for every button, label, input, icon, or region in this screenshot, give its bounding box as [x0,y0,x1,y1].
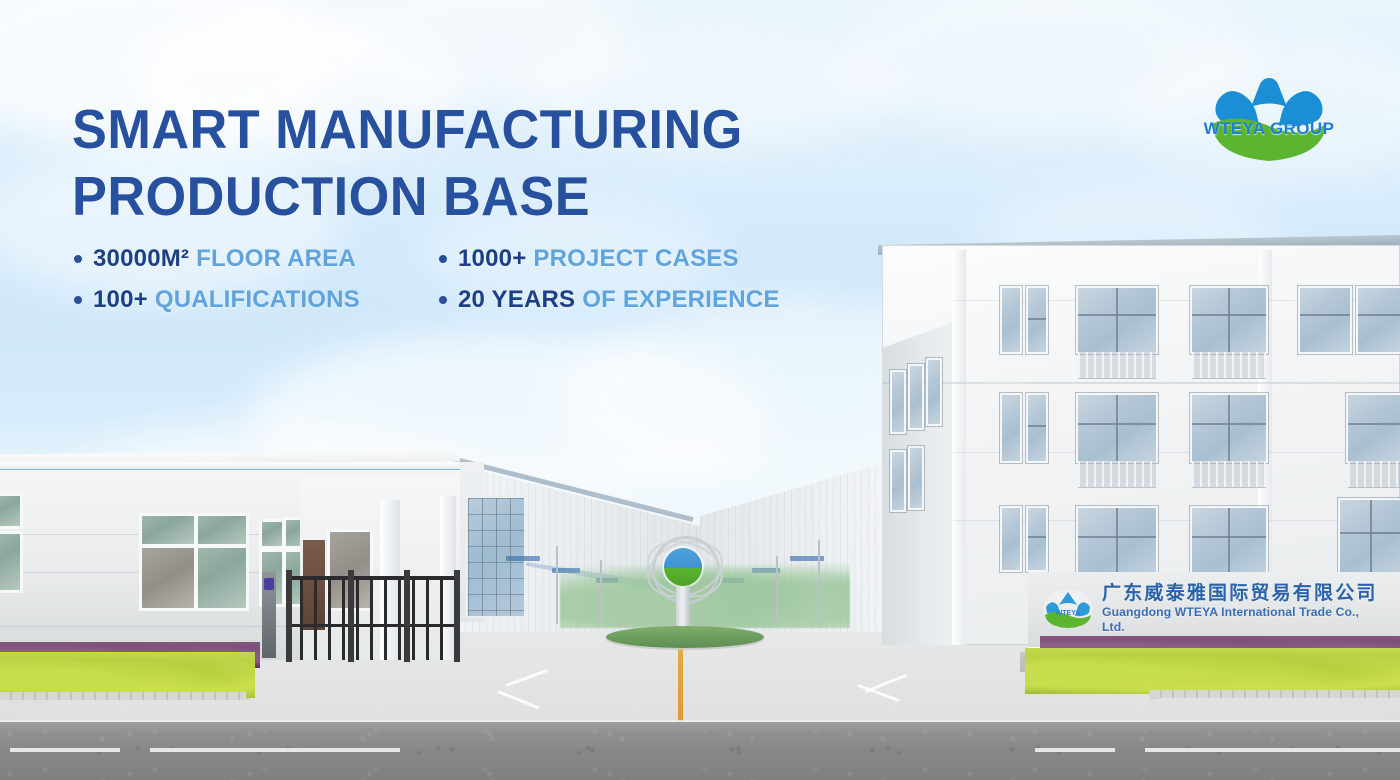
wteya-group-logo: WTEYA GROUP [1198,62,1340,166]
window [1300,288,1350,352]
window [1002,395,1020,461]
sculpture-logo-globe [664,548,702,586]
highlight-item: 20 YEARS OF EXPERIENCE [439,286,774,314]
window [142,548,194,608]
window-guard-rail [1078,461,1156,487]
highlight-item: 1000+ PROJECT CASES [439,245,774,273]
light-pole [818,540,820,624]
logo-wordmark: WTEYA GROUP [1198,119,1340,139]
window [198,516,246,544]
lane-marking [10,748,120,752]
window [1340,500,1400,580]
fence-rail [286,624,460,627]
planting-bed-kerb [0,692,246,700]
window [198,548,246,608]
window [1192,395,1266,461]
window [1192,288,1266,352]
planting-bed-kerb [1150,690,1400,698]
window [928,360,940,424]
window-guard-rail [1348,461,1400,487]
window [1078,508,1156,580]
lane-marking [150,748,400,752]
highlight-value: 1000+ [458,245,526,273]
company-sign-text: 广东威泰雅国际贸易有限公司 Guangdong WTEYA Internatio… [1102,583,1382,635]
fence-post [454,570,460,662]
hero-banner: WTEYA 广东威泰雅国际贸易有限公司 Guangdong WTEYA Inte… [0,0,1400,780]
bullet-dot-icon [439,255,447,263]
window [1028,395,1046,461]
banner-headline: SMART MANUFACTURING PRODUCTION BASE [72,96,889,230]
window [262,522,282,546]
window-guard-rail [1078,352,1156,378]
bullet-dot-icon [74,296,82,304]
fence-post [286,570,292,662]
highlight-label: PROJECT CASES [533,245,738,273]
hedge-lime [1025,648,1400,694]
facade-pilaster [952,250,966,645]
window [1002,508,1020,570]
facade-seam [954,520,1400,521]
highlight-value: 100+ [93,286,148,314]
facade-seam [882,382,1400,384]
company-name-cn: 广东威泰雅国际贸易有限公司 [1102,583,1382,604]
lane-marking [1145,748,1400,752]
fence-post [348,570,354,662]
highlight-label: OF EXPERIENCE [582,286,779,314]
highlight-label: QUALIFICATIONS [155,286,360,314]
window [1348,395,1400,461]
fence-rail [286,576,460,580]
light-pole [600,560,602,624]
highlight-label: FLOOR AREA [196,245,356,273]
window [1192,508,1266,580]
headline-line-1: SMART MANUFACTURING [72,98,743,160]
window [1358,288,1400,352]
window [142,516,194,544]
window [910,366,922,428]
window [1002,288,1020,352]
company-building-sign: WTEYA 广东威泰雅国际贸易有限公司 Guangdong WTEYA Inte… [1042,586,1382,632]
sculpture-stem [676,586,690,630]
company-name-en: Guangdong WTEYA International Trade Co.,… [1102,605,1382,635]
window [1028,508,1046,570]
gate-card-reader [262,572,276,658]
window [910,448,922,508]
light-pole [556,546,558,624]
facade-seam [954,452,1400,453]
window [0,496,20,526]
window-guard-rail [1192,461,1266,487]
lane-marking [1035,748,1115,752]
window [1078,395,1156,461]
bullet-dot-icon [439,296,447,304]
roundabout-planter [606,626,764,648]
svg-text:WTEYA: WTEYA [1056,610,1081,617]
window [0,534,20,590]
window-guard-rail [1192,352,1266,378]
entry-gate-fence [286,576,460,660]
entry-canopy [506,556,540,561]
highlight-item: 100+ QUALIFICATIONS [74,286,439,314]
highlight-value: 20 YEARS [458,286,575,314]
fence-post [404,570,410,662]
headline-line-2: PRODUCTION BASE [72,163,889,230]
window [892,372,904,432]
highlight-list: 30000M² FLOOR AREA 1000+ PROJECT CASES 1… [74,238,774,320]
window [892,452,904,510]
bullet-dot-icon [74,255,82,263]
window [1028,288,1046,352]
highlight-value: 30000M² [93,245,189,273]
window [1078,288,1156,352]
company-logo-icon: WTEYA [1042,589,1094,629]
highlight-item: 30000M² FLOOR AREA [74,245,439,273]
light-pole [776,556,778,624]
